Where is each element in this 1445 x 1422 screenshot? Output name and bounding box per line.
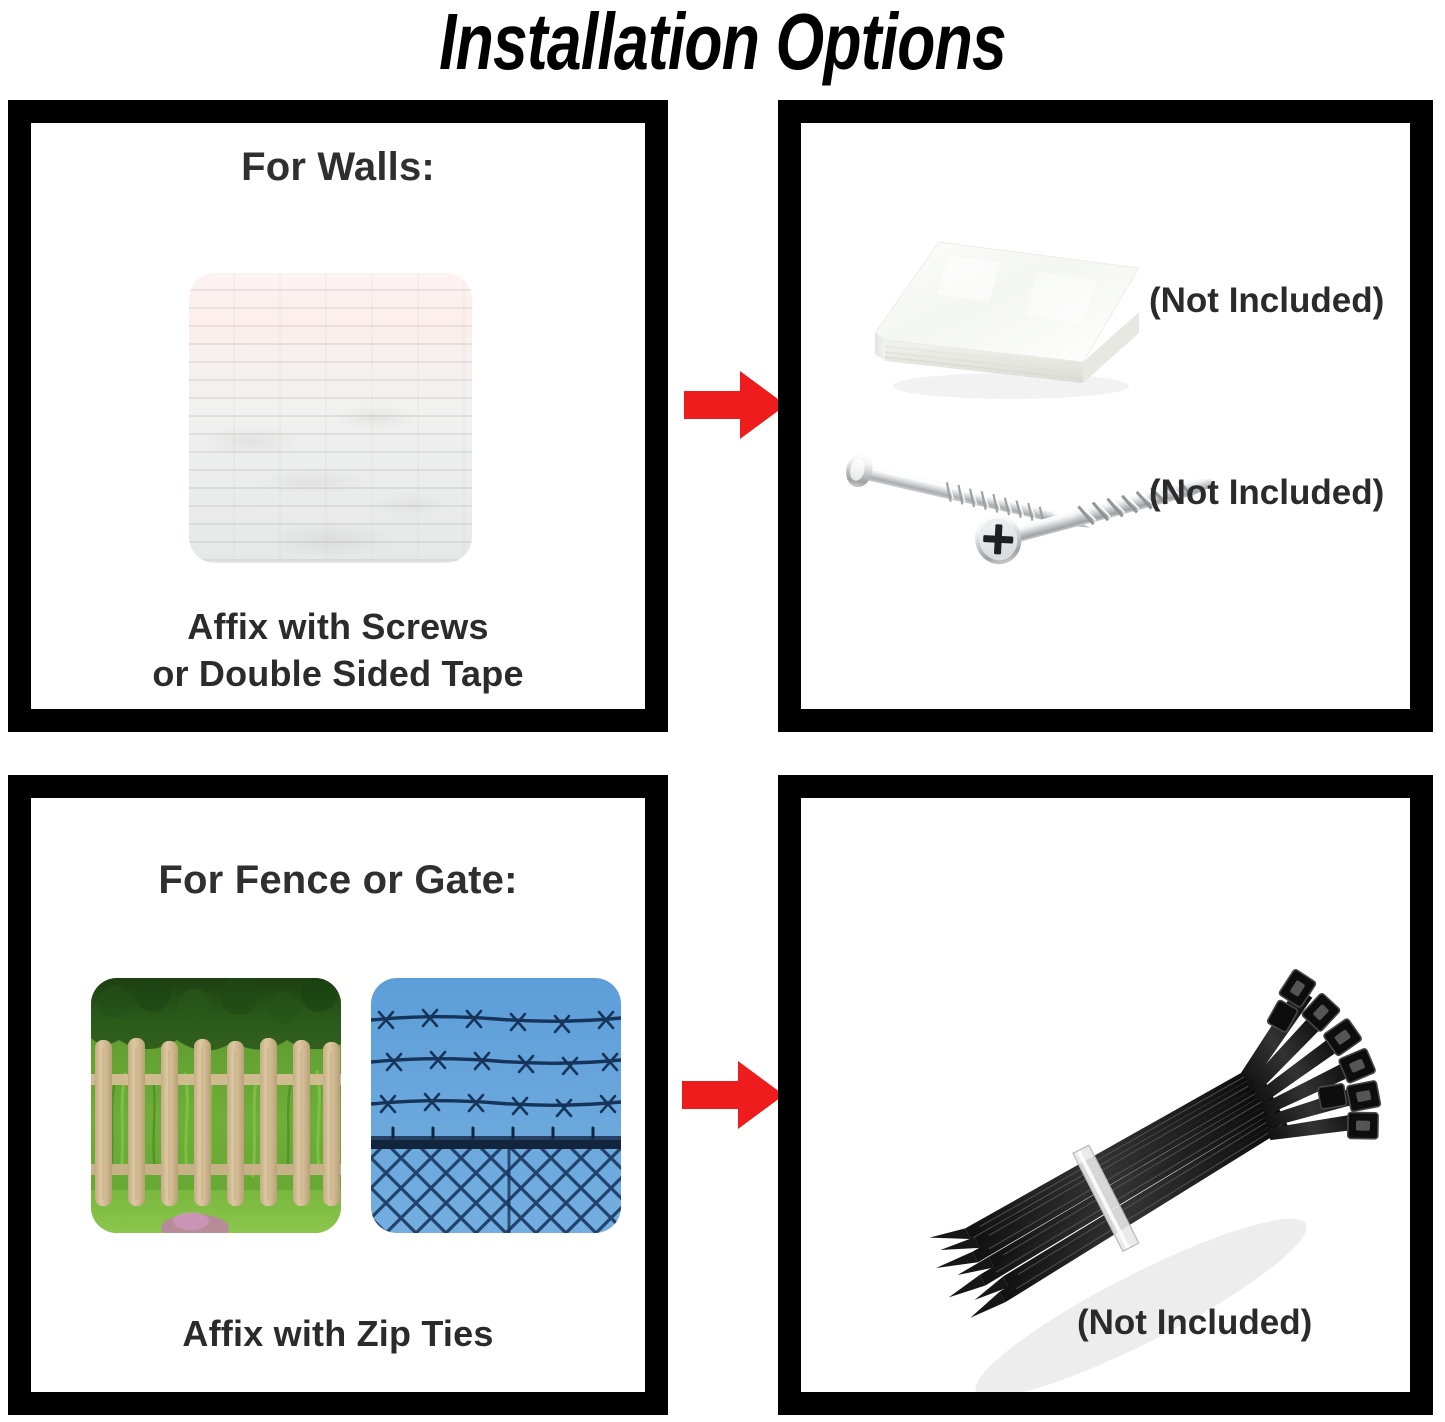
zip-ties-not-included-note: (Not Included) bbox=[1077, 1303, 1312, 1343]
brick-vertical-joints bbox=[189, 273, 472, 563]
affix-with-zip-ties-caption: Affix with Zip Ties bbox=[31, 1313, 645, 1355]
chain-link-barbed-wire-fence-photo bbox=[371, 978, 621, 1233]
affix-with-screws-caption: Affix with Screws bbox=[31, 606, 645, 648]
panel-for-walls: For Walls: Affix with Screws or Double S… bbox=[8, 100, 668, 732]
infographic-page: Installation Options For Walls: Affix wi… bbox=[0, 0, 1445, 1422]
red-right-arrow-icon bbox=[678, 1055, 788, 1135]
panel-for-walls-content: For Walls: Affix with Screws or Double S… bbox=[31, 123, 645, 709]
page-title: Installation Options bbox=[159, 0, 1286, 88]
panel-for-fence-or-gate-content: For Fence or Gate: bbox=[31, 798, 645, 1392]
pink-path-highlight bbox=[173, 1212, 209, 1230]
double-sided-tape-caption: or Double Sided Tape bbox=[31, 653, 645, 695]
arrow-shape bbox=[682, 1061, 784, 1129]
white-brick-wall-photo bbox=[189, 273, 472, 563]
red-right-arrow-icon bbox=[680, 365, 790, 445]
panel-zip-ties: (Not Included) bbox=[778, 775, 1433, 1415]
picket-fence-illustration bbox=[91, 978, 341, 1233]
silver-wood-screws-photo bbox=[831, 433, 1211, 633]
chain-link-mesh bbox=[371, 1149, 621, 1233]
panel-for-fence-or-gate: For Fence or Gate: bbox=[8, 775, 668, 1415]
for-walls-heading: For Walls: bbox=[31, 145, 645, 190]
panel-wall-hardware: (Not Included) bbox=[778, 100, 1433, 732]
panel-zip-ties-content: (Not Included) bbox=[801, 798, 1410, 1392]
chain-link-illustration bbox=[371, 978, 621, 1233]
arrow-shape bbox=[684, 371, 786, 439]
for-fence-or-gate-heading: For Fence or Gate: bbox=[31, 858, 645, 903]
fence-top-rail-highlight bbox=[371, 1136, 621, 1140]
wooden-picket-fence-photo bbox=[91, 978, 341, 1233]
tape-shadow bbox=[893, 373, 1129, 399]
panel-wall-hardware-content: (Not Included) bbox=[801, 123, 1410, 709]
screws-not-included-note: (Not Included) bbox=[1149, 473, 1384, 513]
tape-not-included-note: (Not Included) bbox=[1149, 281, 1384, 321]
double-sided-tape-stack-photo bbox=[861, 228, 1151, 413]
